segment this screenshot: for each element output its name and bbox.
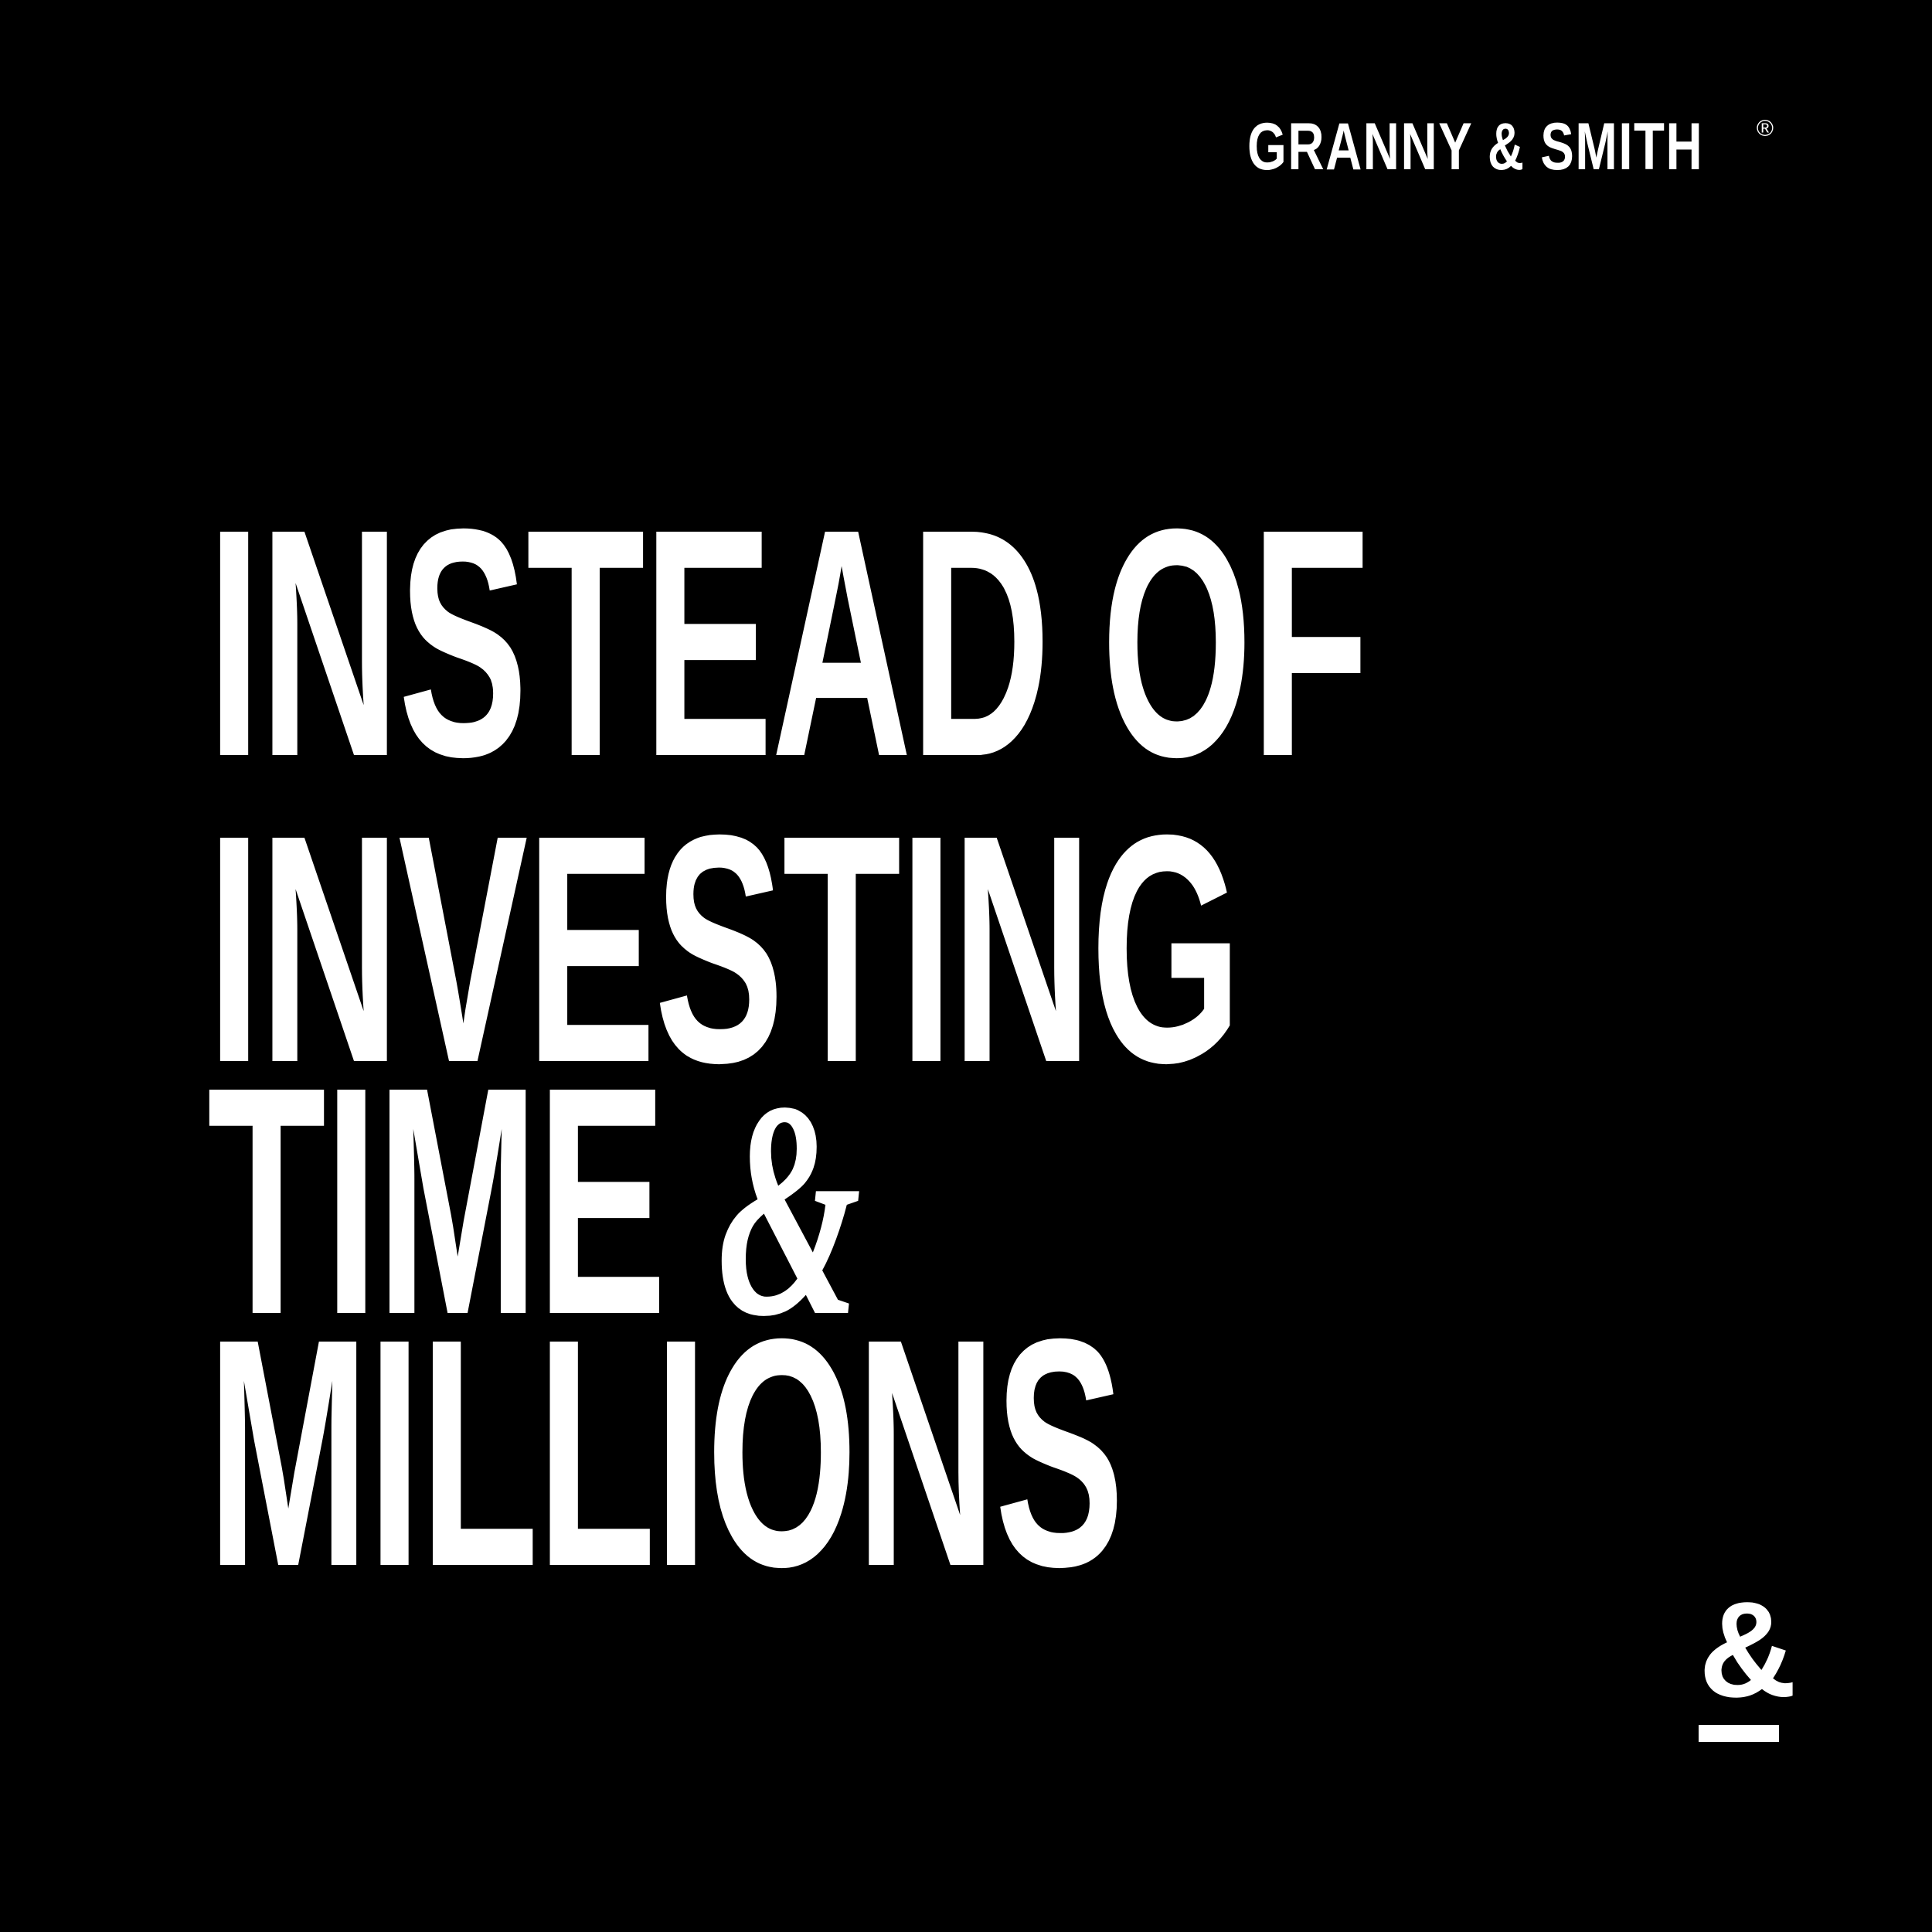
headline-line-4: MILLIONS — [207, 1328, 1019, 1580]
brand-logo-wordmark: GRANNY & SMITH — [1247, 116, 1703, 179]
registered-trademark-icon: ® — [1757, 117, 1774, 141]
corner-ampersand-mark: & — [1699, 1592, 1784, 1742]
poster-canvas: GRANNY & SMITH ® INSTEAD OF INVESTING TI… — [0, 0, 1932, 1932]
brand-logo: GRANNY & SMITH ® — [1247, 116, 1774, 179]
corner-mark-underline-rule — [1699, 1725, 1779, 1742]
corner-ampersand-icon: & — [1699, 1592, 1784, 1708]
headline-block: INSTEAD OF INVESTING TIME & MILLIONS — [207, 464, 1560, 1580]
